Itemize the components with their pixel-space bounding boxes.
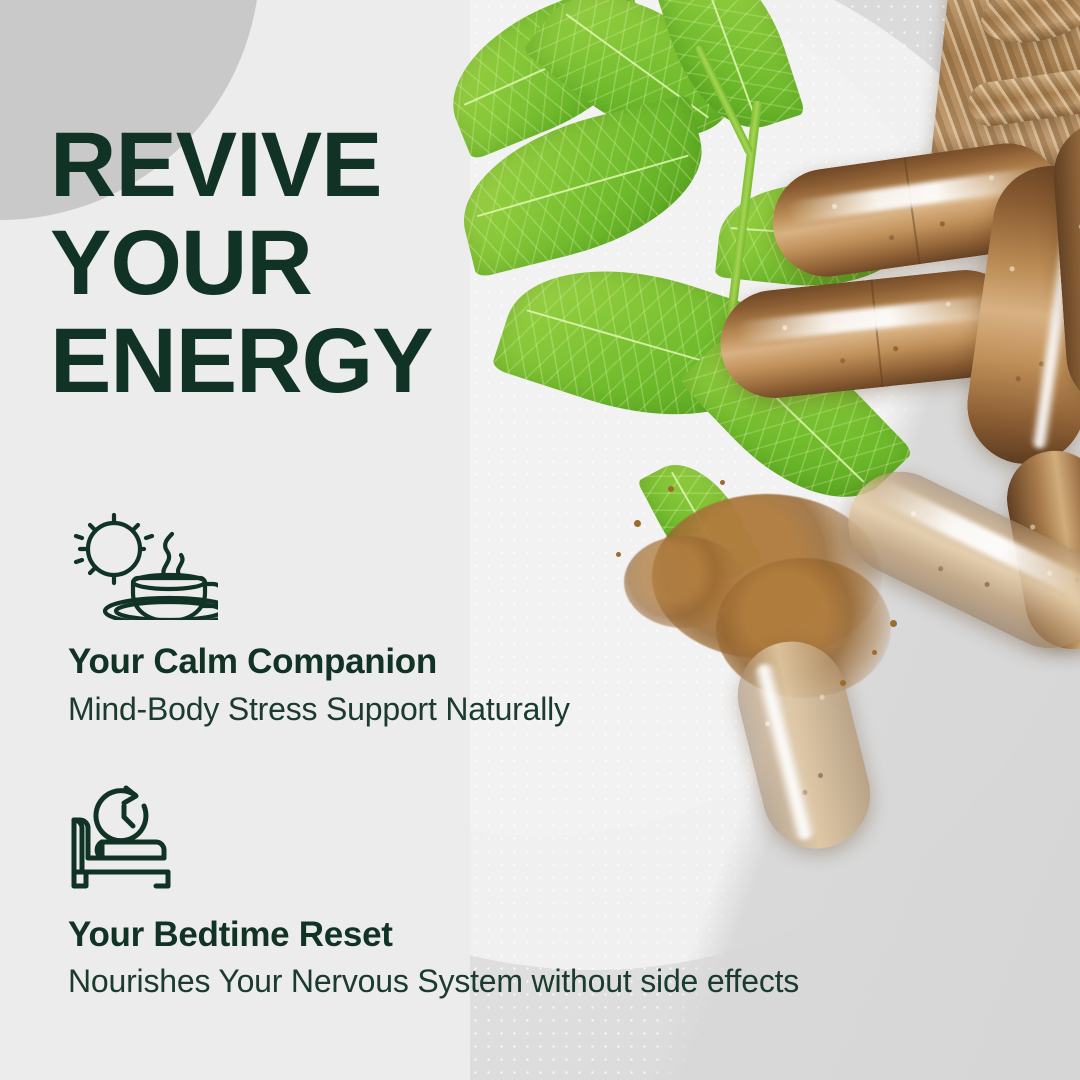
- feature-subtitle-2: Nourishes Your Nervous System without si…: [68, 962, 799, 1000]
- feature-title-2: Your Bedtime Reset: [68, 915, 393, 955]
- bed-clock-reset-icon: [68, 784, 198, 899]
- powder-grain: [840, 680, 846, 686]
- powder-grain: [872, 650, 877, 655]
- headline-line-2: YOUR: [50, 214, 470, 312]
- sun-coffee-cup-icon: [68, 512, 218, 625]
- powder-grain: [720, 480, 725, 485]
- headline-line-1: REVIVE: [50, 116, 470, 214]
- herbal-powder: [624, 536, 744, 628]
- product-photo: [420, 0, 1080, 880]
- headline-line-3: ENERGY: [50, 312, 470, 410]
- powder-grain: [616, 552, 621, 557]
- powder-grain: [890, 620, 897, 627]
- feature-title-1: Your Calm Companion: [68, 642, 437, 682]
- powder-grain: [668, 486, 674, 492]
- powder-grain: [634, 520, 641, 527]
- feature-subtitle-1: Mind-Body Stress Support Naturally: [68, 690, 570, 728]
- promo-poster: REVIVE YOUR ENERGY Your Calm Companion M…: [0, 0, 1080, 1080]
- page-title: REVIVE YOUR ENERGY: [50, 116, 470, 410]
